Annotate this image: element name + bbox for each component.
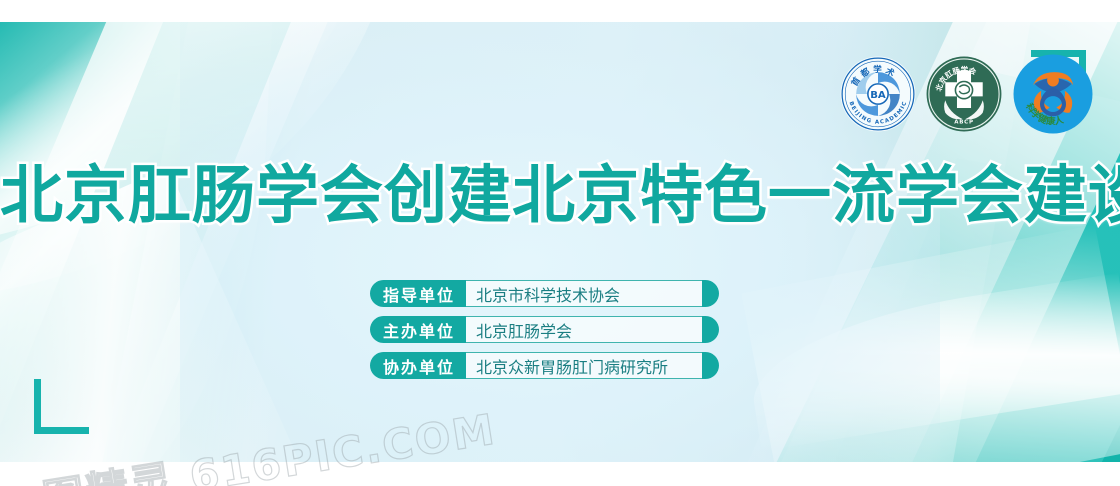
info-row: 指导单位 北京市科学技术协会	[370, 280, 719, 307]
scientific-health-logo: 科学健康人	[1011, 52, 1095, 136]
left-teal-block	[0, 22, 190, 462]
info-row-label: 协办单位	[370, 352, 466, 379]
svg-text:BA: BA	[870, 90, 886, 101]
info-row-end-cap	[702, 280, 719, 307]
svg-text:ABCP: ABCP	[954, 120, 974, 126]
beijing-academic-logo: BA 首 都 学 术 BEIJING ACADEMIC	[839, 55, 917, 133]
banner-background: BA 首 都 学 术 BEIJING ACADEMIC	[0, 22, 1120, 462]
banner-canvas: BA 首 都 学 术 BEIJING ACADEMIC	[0, 0, 1120, 486]
info-row-value: 北京众新胃肠肛门病研究所	[466, 352, 702, 379]
center-light-wash	[180, 22, 940, 462]
info-row: 主办单位 北京肛肠学会	[370, 316, 719, 343]
logo-group: BA 首 都 学 术 BEIJING ACADEMIC	[839, 52, 1095, 136]
corner-bracket-bottom-left	[34, 379, 89, 434]
info-row-label: 指导单位	[370, 280, 466, 307]
info-row-end-cap	[702, 316, 719, 343]
info-row: 协办单位 北京众新胃肠肛门病研究所	[370, 352, 719, 379]
banner-title: 北京肛肠学会创建北京特色一流学会建设	[0, 164, 1120, 227]
info-row-value: 北京市科学技术协会	[466, 280, 702, 307]
info-row-label: 主办单位	[370, 316, 466, 343]
info-row-value: 北京肛肠学会	[466, 316, 702, 343]
beijing-anorectal-society-logo: 北京肛肠学会 ABCP	[925, 55, 1003, 133]
info-row-list: 指导单位 北京市科学技术协会 主办单位 北京肛肠学会 协办单位 北京众新胃肠肛门…	[370, 280, 719, 379]
info-row-end-cap	[702, 352, 719, 379]
